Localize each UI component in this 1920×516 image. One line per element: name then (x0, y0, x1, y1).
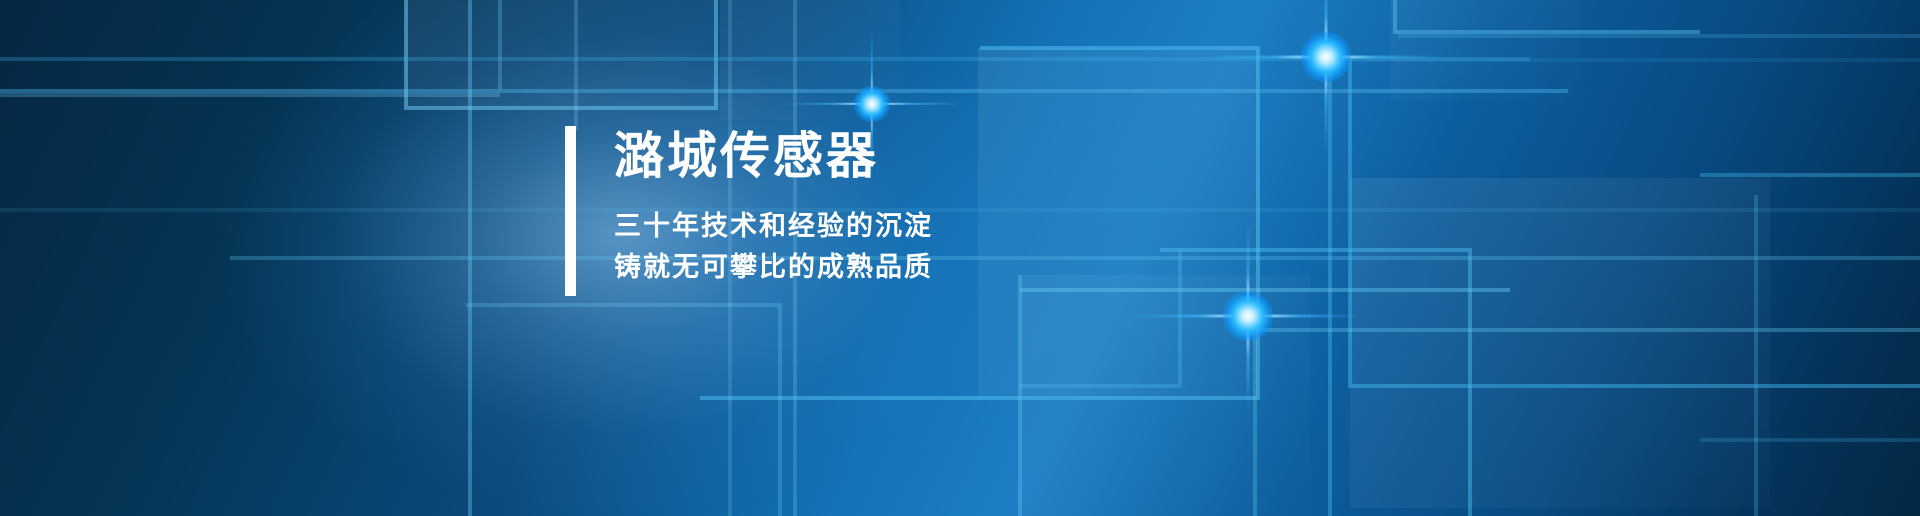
accent-bar (565, 126, 576, 296)
hero-banner: 潞城传感器 三十年技术和经验的沉淀 铸就无可攀比的成熟品质 (0, 0, 1920, 516)
geometric-pattern-layer (0, 0, 1920, 516)
banner-copy: 潞城传感器 三十年技术和经验的沉淀 铸就无可攀比的成熟品质 (614, 126, 933, 296)
banner-title: 潞城传感器 (614, 128, 933, 184)
banner-text-block: 潞城传感器 三十年技术和经验的沉淀 铸就无可攀比的成熟品质 (565, 126, 933, 296)
banner-subtitle-line-2: 铸就无可攀比的成熟品质 (614, 247, 933, 288)
banner-subtitle-line-1: 三十年技术和经验的沉淀 (614, 206, 933, 247)
